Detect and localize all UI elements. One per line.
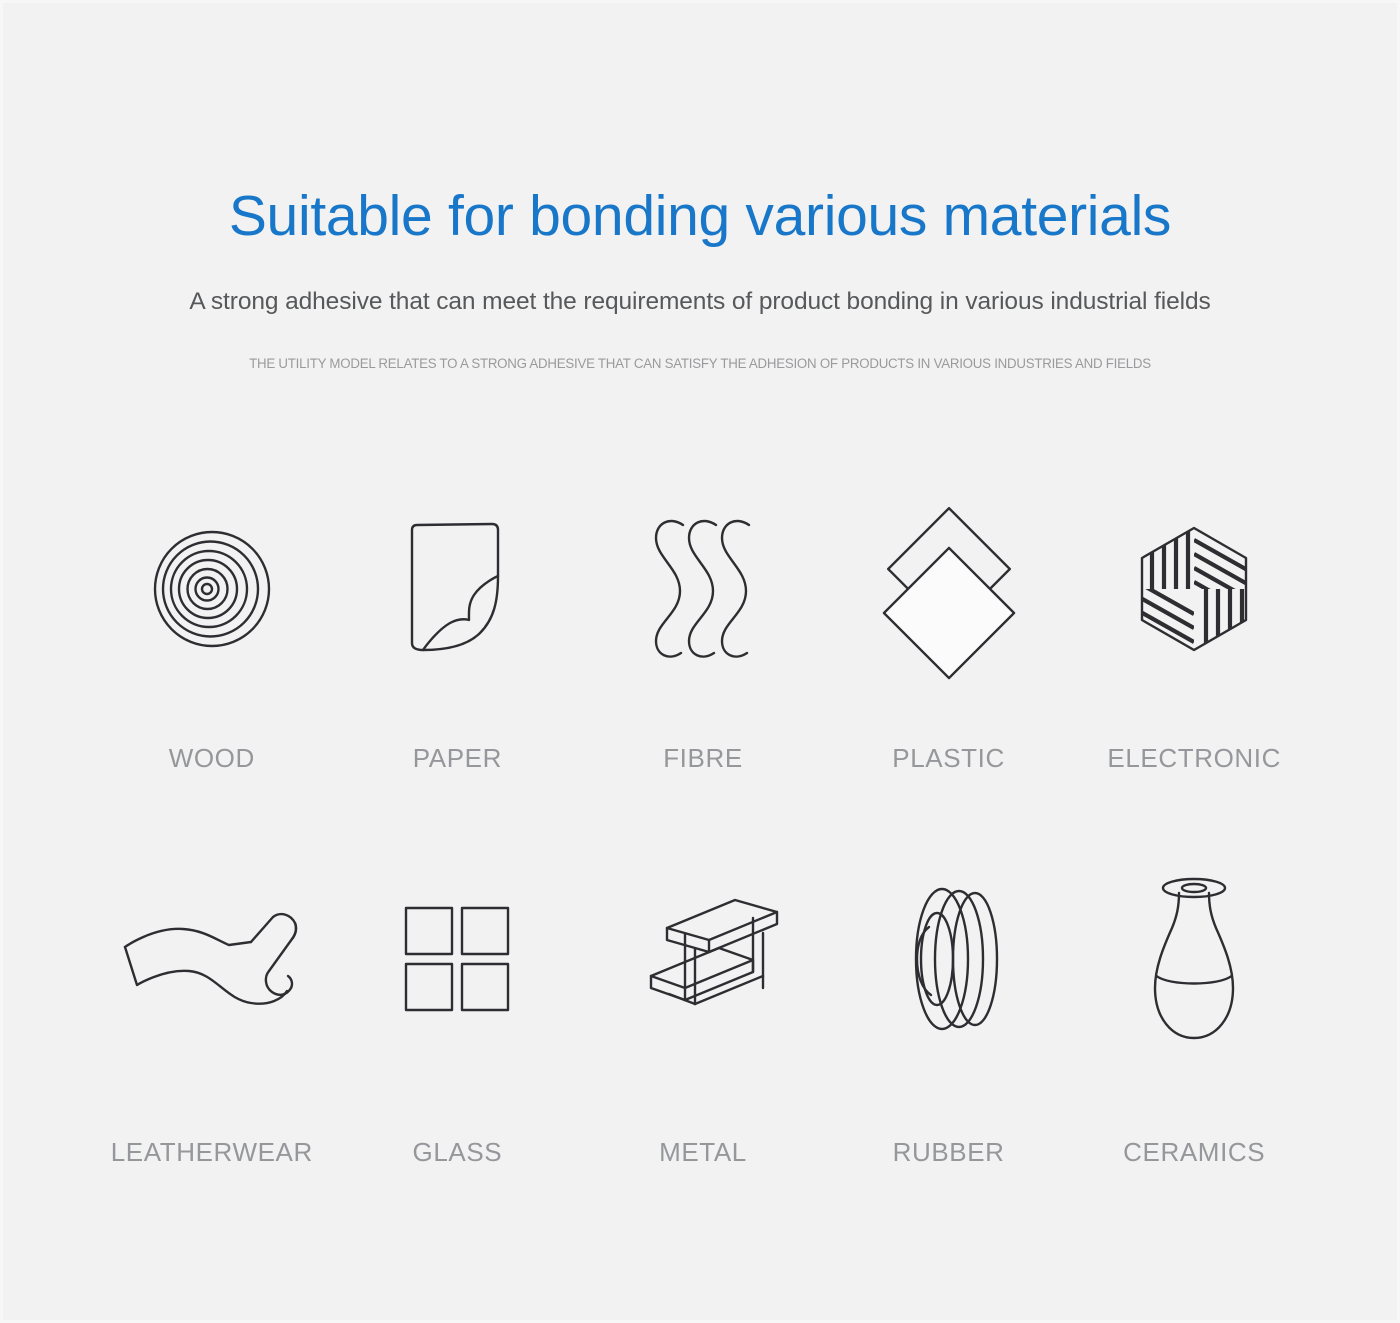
material-label: PLASTIC — [892, 743, 1005, 774]
page-caption: THE UTILITY MODEL RELATES TO A STRONG AD… — [13, 316, 1386, 371]
hatched-hexagon-chip-icon — [1138, 465, 1250, 713]
material-label: FIBRE — [663, 743, 743, 774]
material-label: ELECTRONIC — [1107, 743, 1281, 774]
page-subtitle: A strong adhesive that can meet the requ… — [3, 248, 1397, 316]
isometric-i-beam-icon — [625, 833, 781, 1085]
stacked-o-rings-icon — [895, 833, 1003, 1085]
ceramic-vase-icon — [1139, 833, 1249, 1085]
material-card-glass: GLASS — [335, 833, 581, 1201]
material-card-ceramics: CERAMICS — [1071, 833, 1317, 1201]
material-compatibility-banner: Suitable for bonding various materials A… — [0, 0, 1400, 1323]
material-card-plastic: PLASTIC — [826, 465, 1072, 833]
three-wavy-fibres-icon — [648, 465, 758, 713]
material-card-metal: METAL — [580, 833, 826, 1201]
material-label: GLASS — [413, 1137, 503, 1168]
material-card-leatherwear: LEATHERWEAR — [89, 833, 335, 1201]
rolled-leather-strip-icon — [117, 833, 307, 1085]
material-label: METAL — [659, 1137, 747, 1168]
curled-paper-sheet-icon — [406, 465, 508, 713]
page-title: Suitable for bonding various materials — [3, 3, 1397, 248]
four-pane-window-icon — [404, 833, 510, 1085]
material-card-electronic: ELECTRONIC — [1071, 465, 1317, 833]
material-card-paper: PAPER — [335, 465, 581, 833]
material-label: PAPER — [413, 743, 502, 774]
material-label: CERAMICS — [1123, 1137, 1265, 1168]
material-label: WOOD — [169, 743, 255, 774]
material-card-fibre: FIBRE — [580, 465, 826, 833]
banner-header: Suitable for bonding various materials A… — [3, 3, 1397, 371]
material-label: LEATHERWEAR — [111, 1137, 313, 1168]
tree-rings-icon — [150, 465, 274, 713]
material-card-rubber: RUBBER — [826, 833, 1072, 1201]
material-card-wood: WOOD — [89, 465, 335, 833]
material-label: RUBBER — [893, 1137, 1005, 1168]
materials-grid: WOOD PAPER FIBRE — [89, 465, 1317, 1201]
overlapping-diamonds-icon — [881, 465, 1017, 713]
